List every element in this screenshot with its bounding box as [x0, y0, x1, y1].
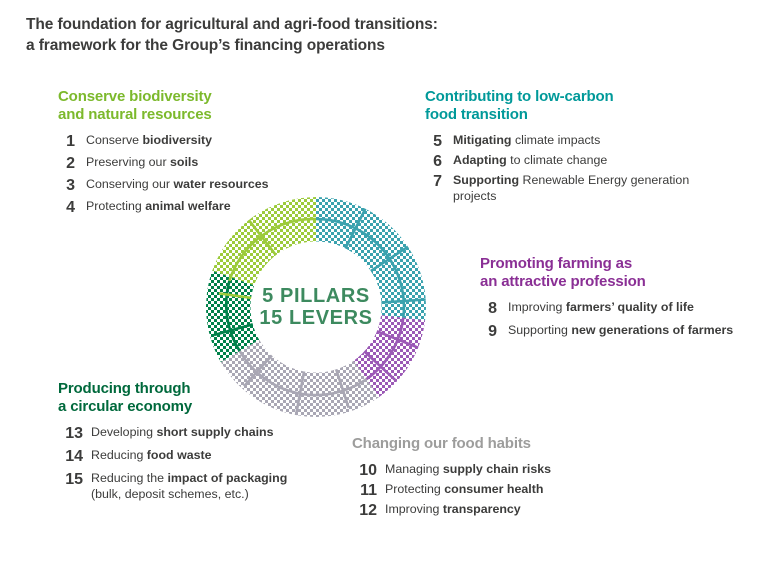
lever-text-pre: Supporting [508, 323, 571, 337]
pillar-heading-lowcarbon: Contributing to low-carbon food transiti… [425, 88, 725, 124]
lever-text: Conserve biodiversity [86, 133, 298, 149]
lever-text-pre: Improving [385, 502, 443, 516]
pillar-changing-food-habits: Changing our food habits 10 Managing sup… [352, 435, 672, 522]
lever-number: 10 [352, 462, 377, 479]
lever-text: Protecting consumer health [385, 482, 672, 498]
lever-text: Managing supply chain risks [385, 462, 672, 478]
pillar-heading-biodiversity: Conserve biodiversity and natural resour… [58, 88, 298, 124]
lever-text: Developing short supply chains [91, 425, 303, 441]
lever-number: 3 [58, 177, 75, 194]
lever-text: Mitigating climate impacts [453, 133, 725, 149]
donut-hole [251, 242, 382, 373]
lever-text-pre: Protecting [385, 482, 444, 496]
lever-text-pre: Reducing the [91, 471, 167, 485]
heading-line-2: food transition [425, 106, 725, 124]
lever-text-post: to climate change [507, 153, 608, 167]
heading-line-2: a circular economy [58, 398, 303, 416]
infographic-canvas: The foundation for agricultural and agri… [0, 0, 775, 574]
lever-number: 13 [58, 425, 83, 442]
page-title-line-1: The foundation for agricultural and agri… [26, 16, 438, 33]
lever-number: 1 [58, 133, 75, 150]
lever-item: 11 Protecting consumer health [352, 482, 672, 499]
page-title-line-2: a framework for the Group’s financing op… [26, 35, 546, 56]
heading-line-1: Producing through [58, 380, 303, 398]
heading-line-2: and natural resources [58, 106, 298, 124]
lever-number: 8 [480, 300, 497, 317]
lever-number: 6 [425, 153, 442, 170]
lever-item: 1 Conserve biodiversity [58, 133, 298, 150]
pillar-promoting-farming: Promoting farming as an attractive profe… [480, 255, 770, 346]
heading-line-1: Promoting farming as [480, 255, 770, 273]
lever-text-bold: impact of packaging [167, 471, 287, 485]
lever-item: 7 Supporting Renewable Energy generation… [425, 173, 725, 204]
lever-item: 12 Improving transparency [352, 502, 672, 519]
pillar-heading-circular: Producing through a circular economy [58, 380, 303, 416]
lever-item: 13 Developing short supply chains [58, 425, 303, 442]
page-title: The foundation for agricultural and agri… [26, 14, 546, 56]
lever-item: 9 Supporting new generations of farmers [480, 323, 770, 340]
lever-item: 10 Managing supply chain risks [352, 462, 672, 479]
lever-item: 15 Reducing the impact of packaging (bul… [58, 471, 303, 502]
lever-text-bold: transparency [443, 502, 521, 516]
heading-line-1: Changing our food habits [352, 435, 672, 453]
lever-text-bold: new generations of farmers [571, 323, 733, 337]
pillar-circular-economy: Producing through a circular economy 13 … [58, 380, 303, 508]
lever-text-bold: farmers’ quality of life [566, 300, 694, 314]
lever-number: 14 [58, 448, 83, 465]
pillar-heading-farming: Promoting farming as an attractive profe… [480, 255, 770, 291]
lever-text-pre: Developing [91, 425, 156, 439]
lever-number: 5 [425, 133, 442, 150]
lever-number: 11 [352, 482, 377, 499]
lever-text-pre: Conserving our [86, 177, 173, 191]
lever-text-bold: supply chain risks [443, 462, 551, 476]
lever-text: Preserving our soils [86, 155, 298, 171]
lever-text: Supporting Renewable Energy generation p… [453, 173, 725, 204]
lever-text: Improving transparency [385, 502, 672, 518]
lever-item: 8 Improving farmers’ quality of life [480, 300, 770, 317]
lever-item: 14 Reducing food waste [58, 448, 303, 465]
lever-text-bold: Adapting [453, 153, 507, 167]
lever-item: 5 Mitigating climate impacts [425, 133, 725, 150]
lever-text-bold: biodiversity [142, 133, 212, 147]
lever-number: 7 [425, 173, 442, 190]
lever-text: Conserving our water resources [86, 177, 298, 193]
heading-line-2: an attractive profession [480, 273, 770, 291]
lever-text: Improving farmers’ quality of life [508, 300, 770, 316]
lever-number: 4 [58, 199, 75, 216]
lever-text: Reducing food waste [91, 448, 303, 464]
lever-number: 15 [58, 471, 83, 488]
lever-text-post: climate impacts [512, 133, 601, 147]
lever-text-bold: short supply chains [156, 425, 273, 439]
lever-number: 9 [480, 323, 497, 340]
lever-text-bold: soils [170, 155, 198, 169]
pillar-heading-foodhabits: Changing our food habits [352, 435, 672, 453]
heading-line-1: Conserve biodiversity [58, 88, 298, 106]
lever-text-pre: Preserving our [86, 155, 170, 169]
lever-item: 3 Conserving our water resources [58, 177, 298, 194]
lever-text-pre: Protecting [86, 199, 145, 213]
lever-text: Reducing the impact of packaging (bulk, … [91, 471, 303, 502]
lever-text-pre: Conserve [86, 133, 142, 147]
lever-text-bold: water resources [173, 177, 268, 191]
pillar-low-carbon-transition: Contributing to low-carbon food transiti… [425, 88, 725, 207]
lever-text-post: (bulk, deposit schemes, etc.) [91, 487, 249, 501]
lever-text: Supporting new generations of farmers [508, 323, 770, 339]
lever-text-bold: consumer health [444, 482, 543, 496]
lever-text-bold: food waste [147, 448, 212, 462]
pillar-conserve-biodiversity: Conserve biodiversity and natural resour… [58, 88, 298, 221]
lever-item: 6 Adapting to climate change [425, 153, 725, 170]
heading-line-1: Contributing to low-carbon [425, 88, 725, 106]
lever-text-bold: animal welfare [145, 199, 230, 213]
lever-text-bold: Supporting [453, 173, 519, 187]
lever-item: 4 Protecting animal welfare [58, 199, 298, 216]
lever-number: 2 [58, 155, 75, 172]
lever-text-pre: Reducing [91, 448, 147, 462]
lever-text: Adapting to climate change [453, 153, 725, 169]
lever-text-pre: Improving [508, 300, 566, 314]
lever-text: Protecting animal welfare [86, 199, 298, 215]
lever-number: 12 [352, 502, 377, 519]
lever-item: 2 Preserving our soils [58, 155, 298, 172]
lever-text-pre: Managing [385, 462, 443, 476]
lever-text-bold: Mitigating [453, 133, 512, 147]
